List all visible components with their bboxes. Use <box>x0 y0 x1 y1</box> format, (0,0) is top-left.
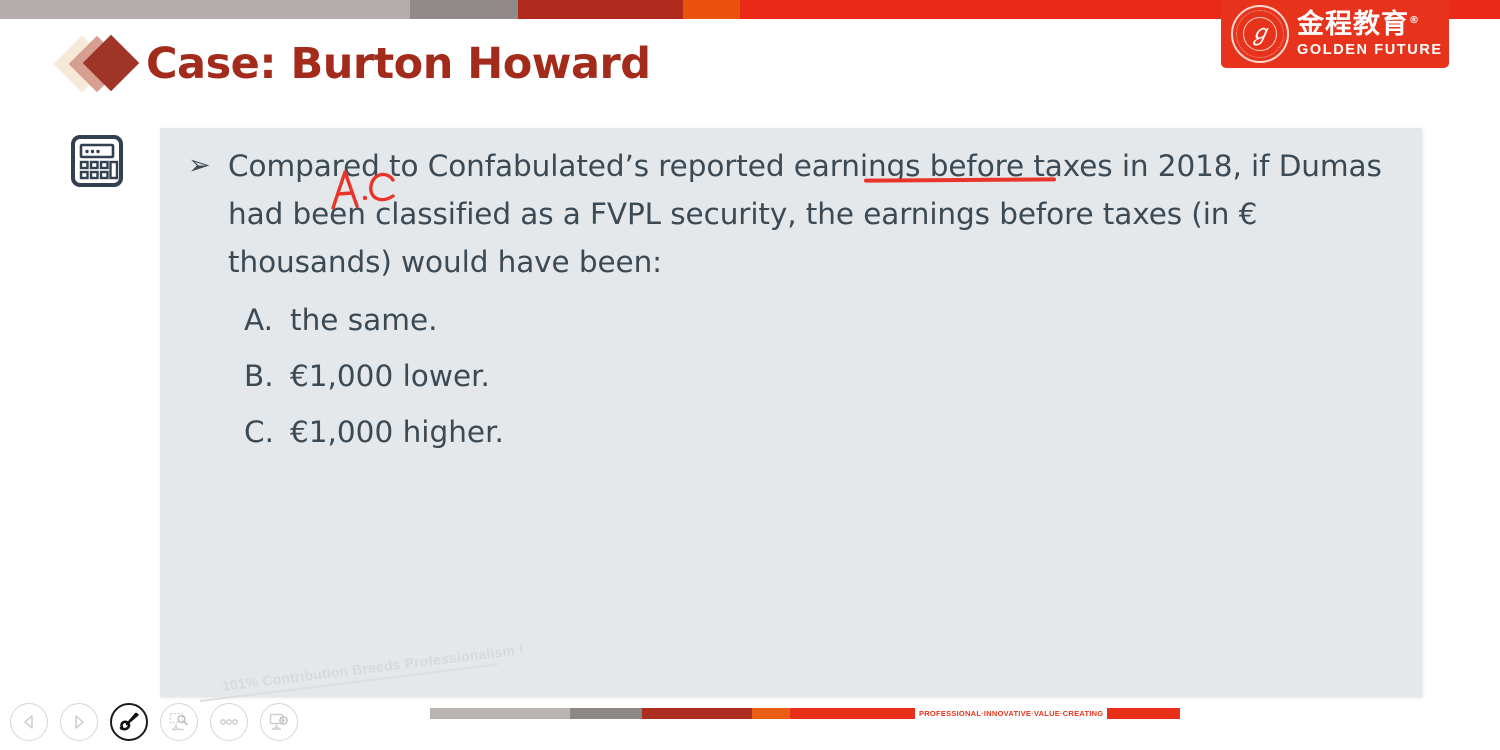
zoom-region-button[interactable] <box>160 703 198 741</box>
footer-segment-red <box>790 708 915 719</box>
slide-title-row: Case: Burton Howard <box>62 33 651 95</box>
calculator-icon <box>70 134 124 188</box>
seal-ring <box>1236 10 1284 58</box>
more-options-button[interactable] <box>210 703 248 741</box>
presentation-toolbar <box>10 703 310 741</box>
diamond-bullet-icon <box>62 33 144 95</box>
option-letter: A. <box>244 296 290 344</box>
option-letter: C. <box>244 408 290 456</box>
topbar-segment-gray <box>410 0 518 19</box>
footer-segment-orange <box>752 708 790 719</box>
list-item[interactable]: A. the same. <box>244 296 1402 344</box>
logo-chinese-text: 金程教育 <box>1297 9 1409 40</box>
footer-segment-dark-red <box>642 708 752 719</box>
question-block: ➢ Compared to Confabulated’s reported ea… <box>182 142 1402 464</box>
question-text: Compared to Confabulated’s reported earn… <box>228 142 1402 286</box>
brand-logo: ℊ 金程教育® GOLDEN FUTURE <box>1221 0 1449 68</box>
option-letter: B. <box>244 352 290 400</box>
option-text: €1,000 higher. <box>290 408 504 456</box>
list-item[interactable]: C. €1,000 higher. <box>244 408 1402 456</box>
pen-tool-button[interactable] <box>110 703 148 741</box>
question-row: ➢ Compared to Confabulated’s reported ea… <box>182 142 1402 286</box>
footer-segment-gray <box>570 708 642 719</box>
footer-segment-red-end <box>1107 708 1180 719</box>
option-text: the same. <box>290 296 438 344</box>
topbar-segment-orange <box>683 0 740 19</box>
previous-slide-button[interactable] <box>10 703 48 741</box>
registered-mark: ® <box>1409 15 1420 26</box>
option-text: €1,000 lower. <box>290 352 490 400</box>
logo-text-block: 金程教育® GOLDEN FUTURE <box>1297 11 1443 58</box>
footer-color-bar: PROFESSIONAL·INNOVATIVE·VALUE·CREATING <box>430 708 1180 719</box>
page-title: Case: Burton Howard <box>146 39 651 89</box>
footer-tagline: PROFESSIONAL·INNOVATIVE·VALUE·CREATING <box>915 708 1107 719</box>
footer-segment-light-gray <box>430 708 570 719</box>
logo-english-name: GOLDEN FUTURE <box>1297 43 1443 58</box>
golden-future-seal-icon: ℊ <box>1231 5 1289 63</box>
display-settings-button[interactable] <box>260 703 298 741</box>
answer-options: A. the same. B. €1,000 lower. C. €1,000 … <box>244 296 1402 456</box>
topbar-segment-light-gray <box>0 0 410 19</box>
logo-chinese-name: 金程教育® <box>1297 11 1443 38</box>
topbar-segment-dark-red <box>518 0 683 19</box>
next-slide-button[interactable] <box>60 703 98 741</box>
list-item[interactable]: B. €1,000 lower. <box>244 352 1402 400</box>
arrow-bullet-icon: ➢ <box>182 142 228 190</box>
question-panel: ➢ Compared to Confabulated’s reported ea… <box>160 128 1422 697</box>
